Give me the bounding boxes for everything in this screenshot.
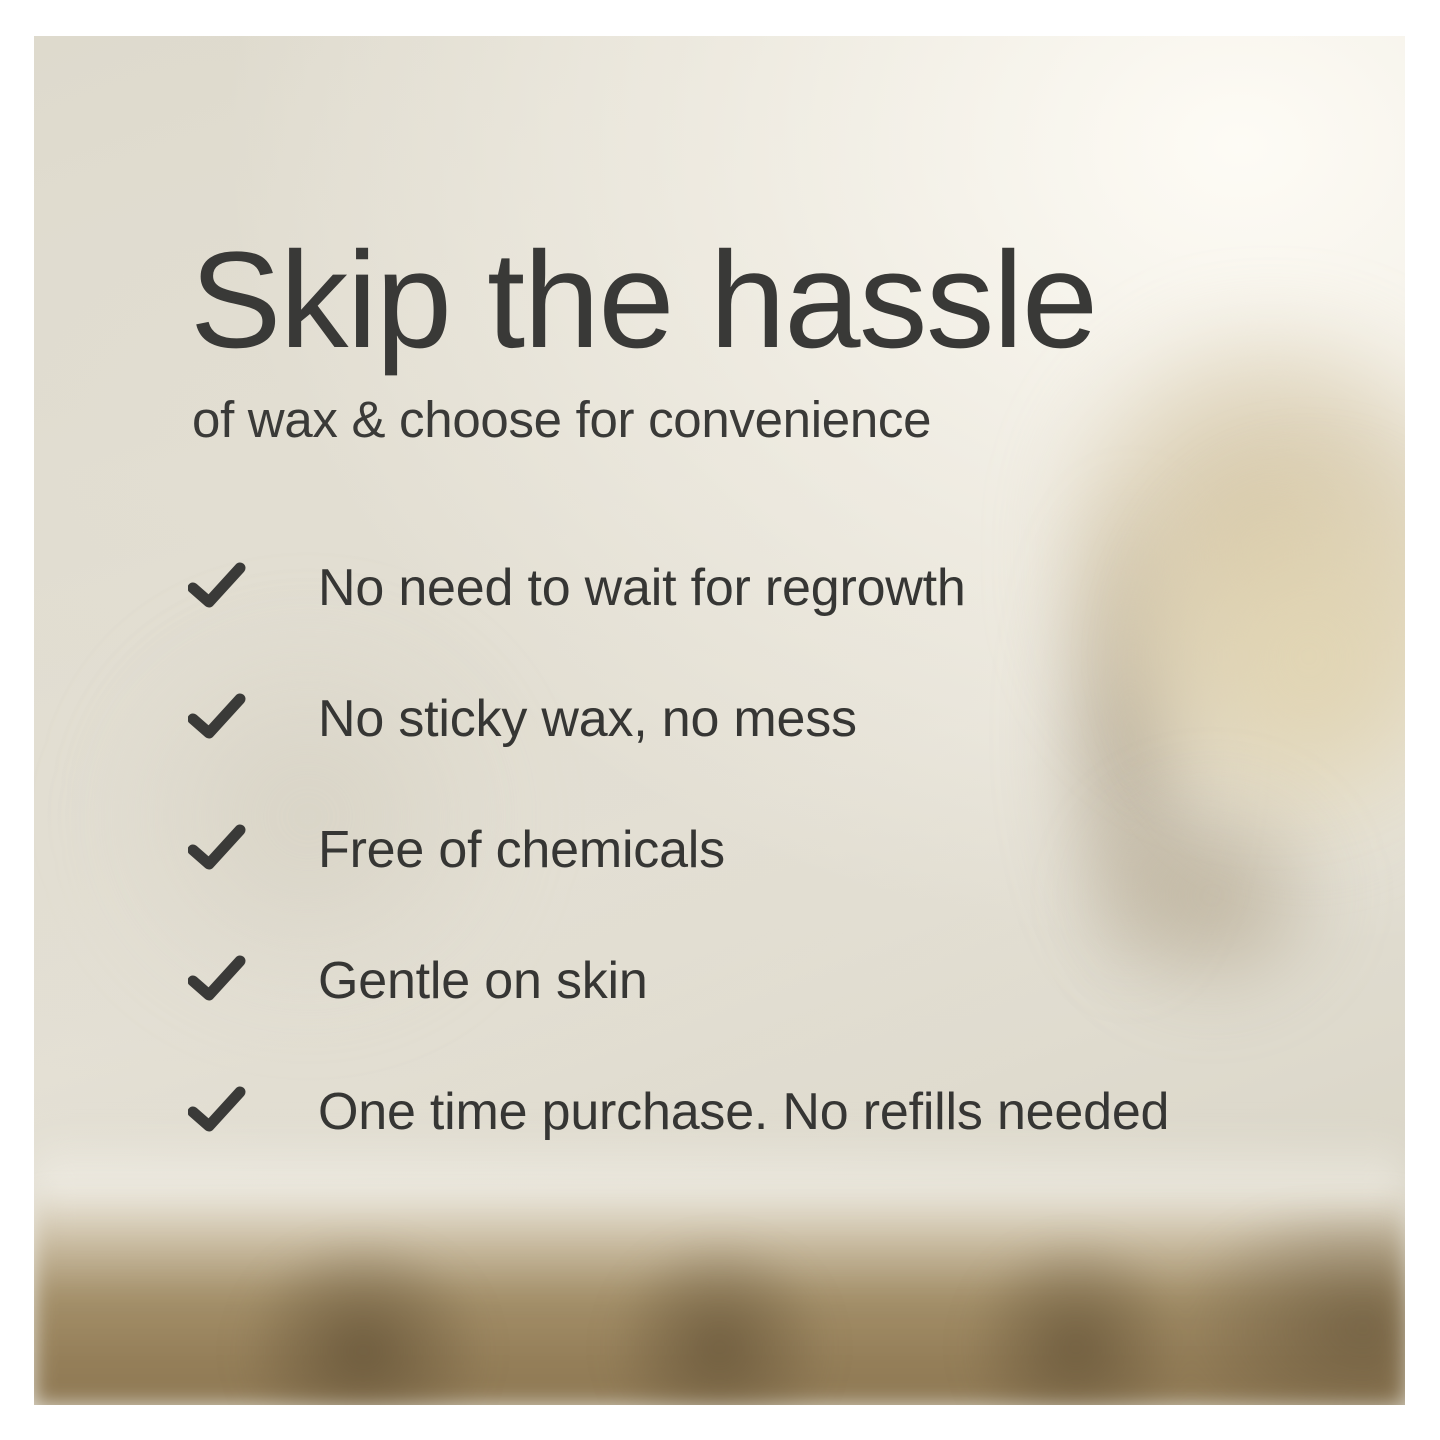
text-overlay: Skip the hassle of wax & choose for conv… [0,0,1440,1440]
check-icon [188,818,318,888]
subheadline: of wax & choose for convenience [192,392,931,448]
list-item: Gentle on skin [188,949,1368,1080]
list-item-label: No sticky wax, no mess [318,687,857,749]
check-icon [188,556,318,626]
check-icon [188,1080,318,1150]
list-item: No sticky wax, no mess [188,687,1368,818]
check-icon [188,687,318,757]
benefits-list: No need to wait for regrowth No sticky w… [188,556,1368,1211]
promotional-image-canvas: Skip the hassle of wax & choose for conv… [0,0,1440,1440]
headline: Skip the hassle [190,232,1097,369]
list-item: One time purchase. No refills needed [188,1080,1368,1211]
list-item-label: One time purchase. No refills needed [318,1080,1169,1142]
list-item: No need to wait for regrowth [188,556,1368,687]
check-icon [188,949,318,1019]
list-item: Free of chemicals [188,818,1368,949]
list-item-label: No need to wait for regrowth [318,556,966,618]
list-item-label: Gentle on skin [318,949,648,1011]
list-item-label: Free of chemicals [318,818,725,880]
